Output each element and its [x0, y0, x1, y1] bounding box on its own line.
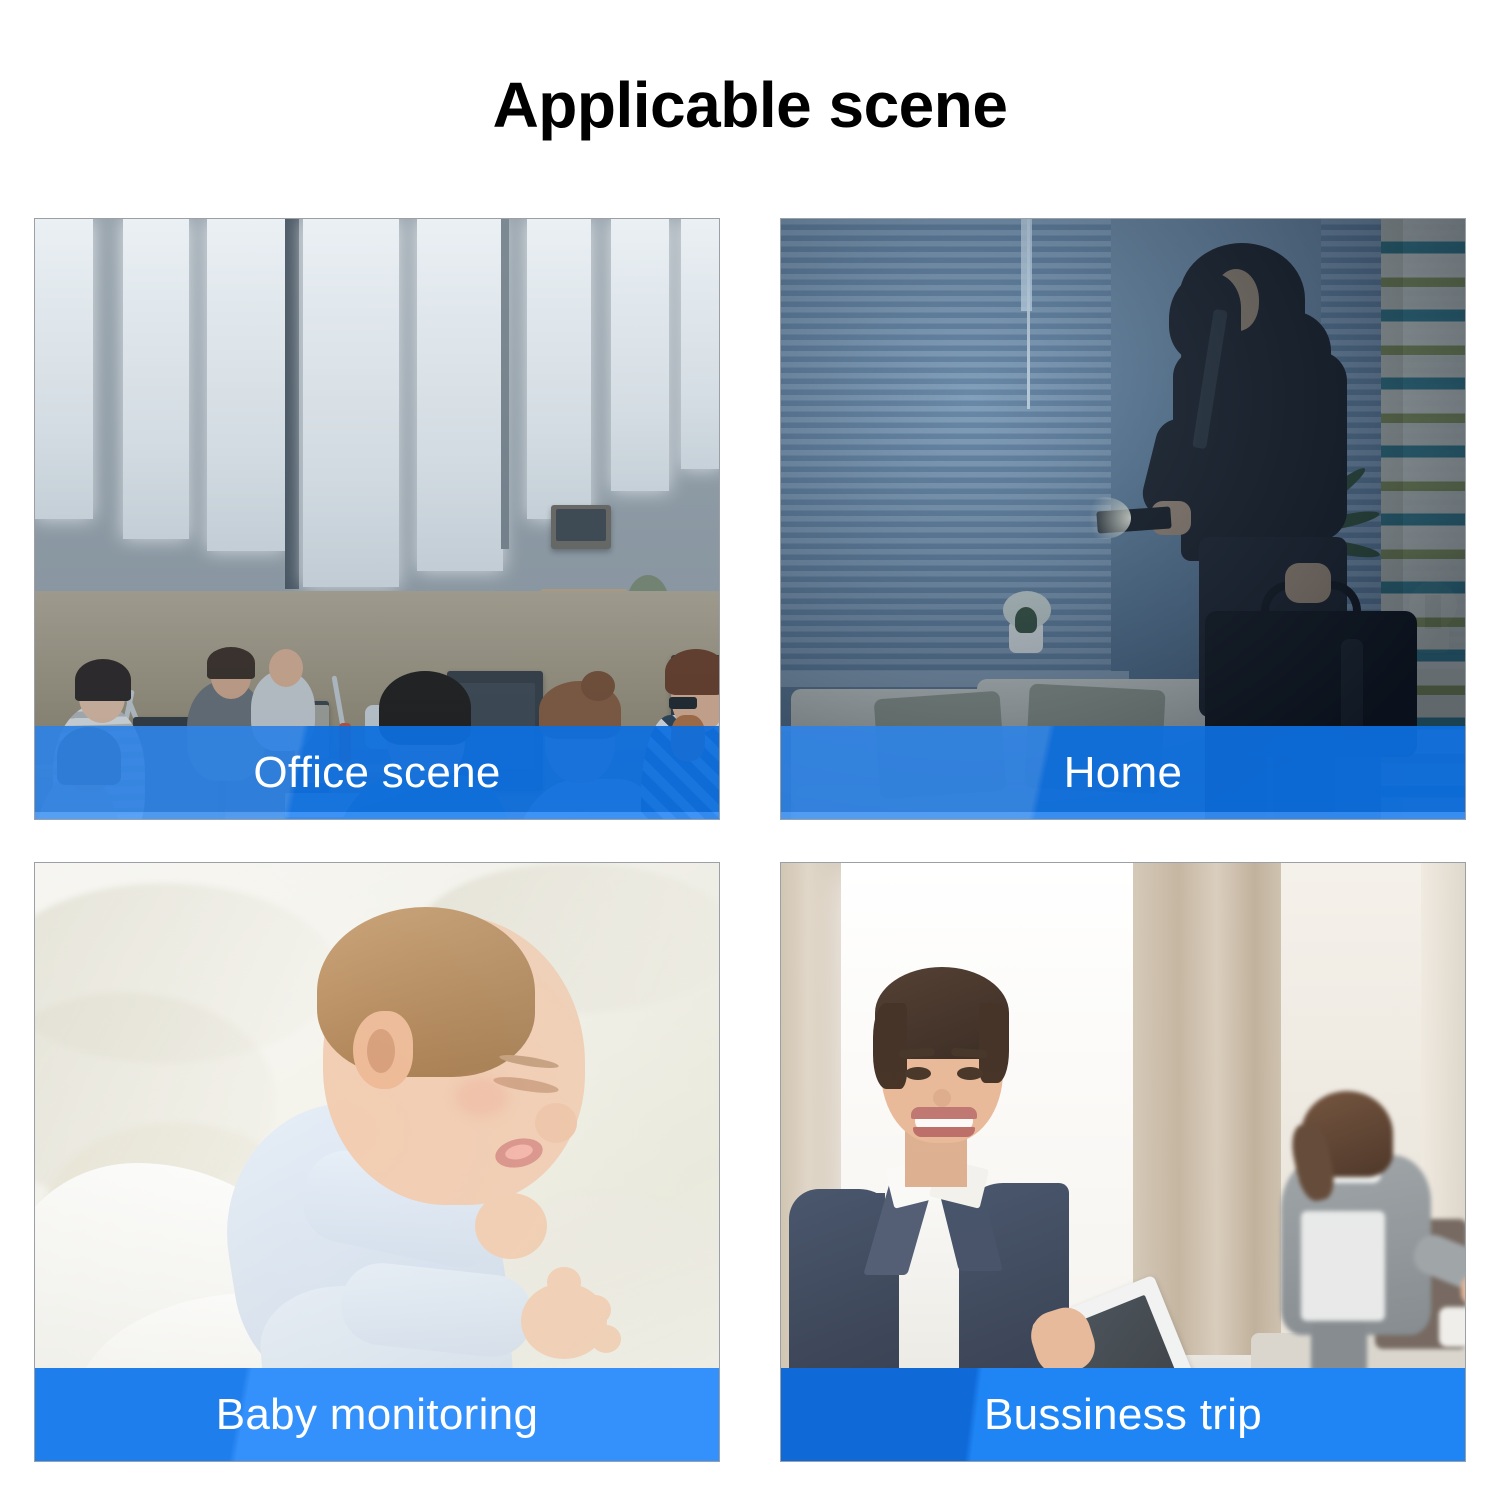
- page-title: Applicable scene: [0, 72, 1500, 139]
- office-caption-bar: Office scene: [35, 726, 719, 819]
- scene-card-office[interactable]: Office scene: [34, 218, 720, 820]
- scene-card-baby[interactable]: Baby monitoring: [34, 862, 720, 1462]
- business-caption-label: Bussiness trip: [984, 1390, 1262, 1440]
- baby-caption-label: Baby monitoring: [216, 1390, 538, 1440]
- scene-card-grid: Office scene: [34, 218, 1466, 1462]
- business-caption-bar: Bussiness trip: [781, 1368, 1465, 1461]
- office-caption-label: Office scene: [253, 748, 500, 798]
- home-caption-bar: Home: [781, 726, 1465, 819]
- scene-card-business[interactable]: Bussiness trip: [780, 862, 1466, 1462]
- home-caption-label: Home: [1064, 748, 1183, 798]
- baby-caption-bar: Baby monitoring: [35, 1368, 719, 1461]
- scene-card-home[interactable]: Home: [780, 218, 1466, 820]
- applicable-scene-page: Applicable scene: [0, 0, 1500, 1500]
